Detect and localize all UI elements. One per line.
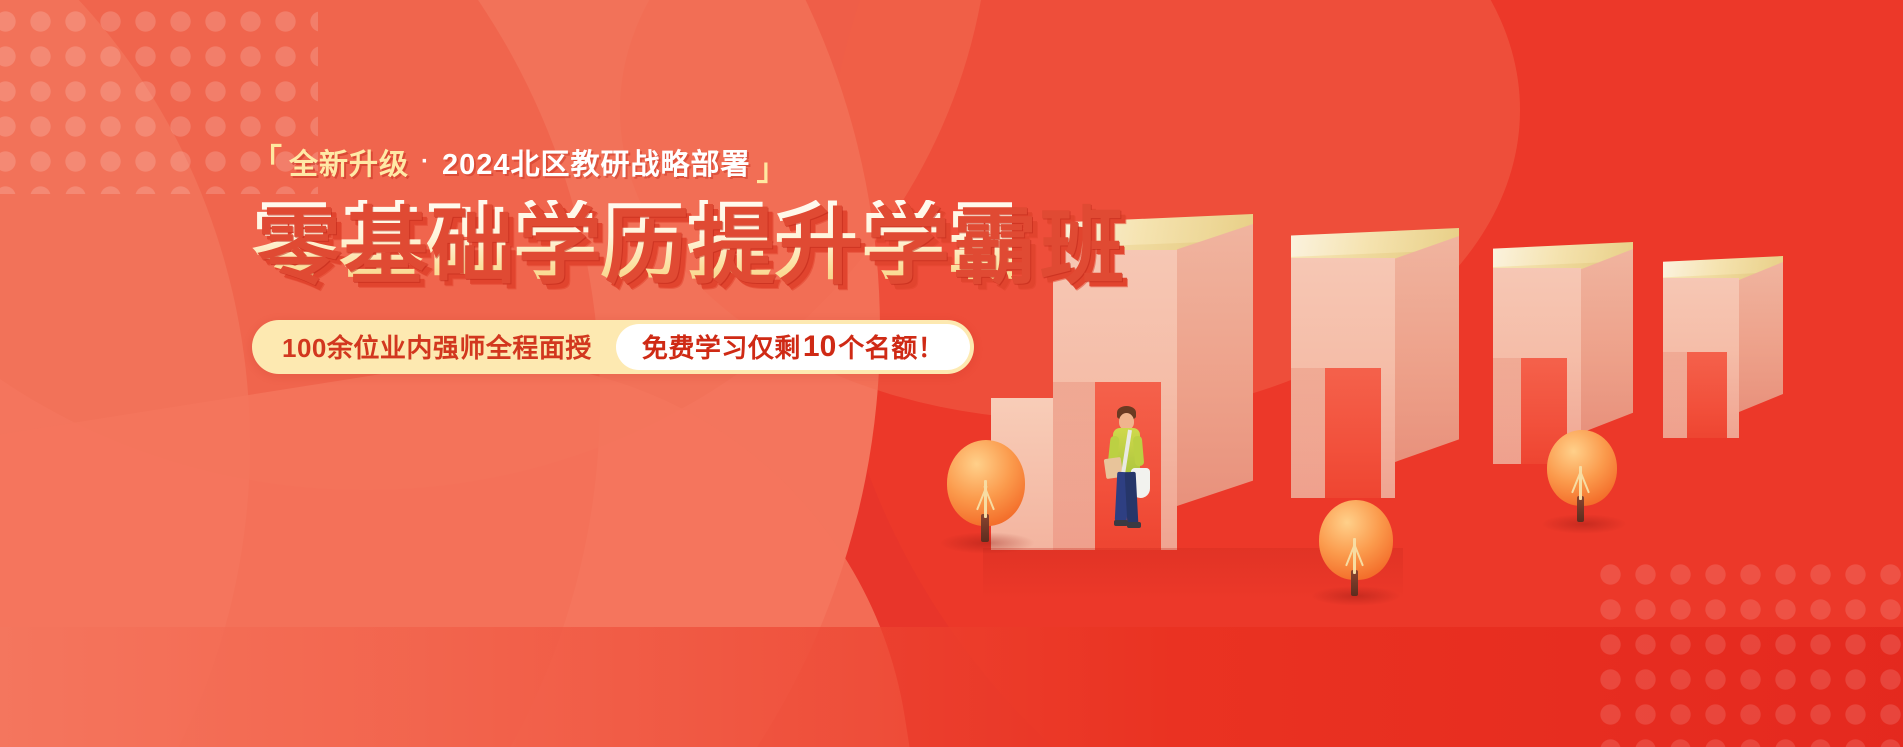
eyebrow-white-text: 2024北区教研战略部署 (442, 151, 751, 180)
bracket-open-icon: 「 (252, 146, 283, 176)
eyebrow-separator-icon: · (415, 150, 436, 174)
remaining-slots-suffix: 个名额！ (838, 328, 944, 365)
student-figure (1101, 406, 1161, 546)
tree-3 (1543, 430, 1625, 534)
promo-pill-group[interactable]: 100余位业内强师全程面授 免费学习仅剩 10 个名额！ (252, 320, 974, 374)
promo-banner: 「 全新升级 · 2024北区教研战略部署 」 零基础学历提升学霸班 100余位… (0, 0, 1903, 747)
eyebrow-highlight-text: 全新升级 (289, 151, 409, 180)
tree-1 (943, 440, 1033, 550)
bracket-close-icon: 」 (757, 156, 788, 186)
remaining-slots-badge[interactable]: 免费学习仅剩 10 个名额！ (616, 324, 970, 370)
banner-copy: 「 全新升级 · 2024北区教研战略部署 」 零基础学历提升学霸班 100余位… (252, 150, 1012, 374)
campus-gate-illustration (1043, 0, 1903, 747)
banner-eyebrow: 「 全新升级 · 2024北区教研战略部署 」 (252, 150, 1012, 180)
tree-2 (1315, 500, 1401, 606)
page-title: 零基础学历提升学霸班 (252, 200, 1012, 286)
remaining-slots-prefix: 免费学习仅剩 (642, 328, 801, 365)
remaining-slots-number: 10 (801, 330, 838, 364)
instructor-count-label: 100余位业内强师全程面授 (282, 328, 616, 365)
